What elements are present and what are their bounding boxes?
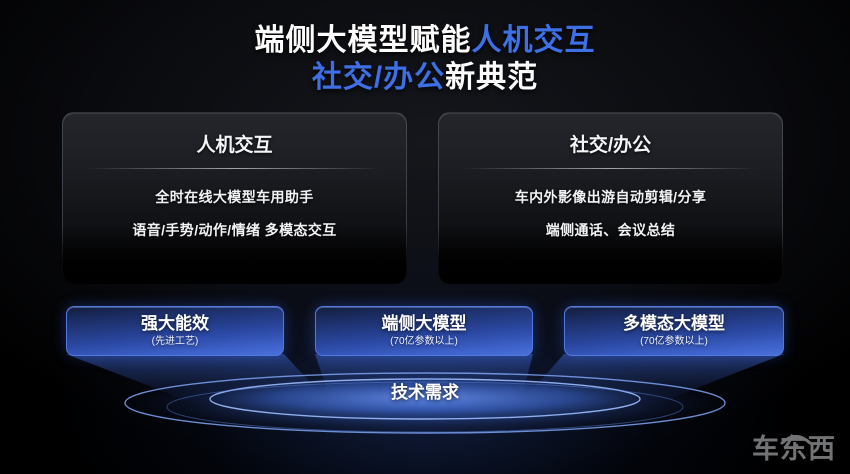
capability-button-sublabel: (70亿参数以上)	[390, 335, 458, 348]
title-line-1-blue: 人机交互	[472, 24, 596, 57]
watermark: 车东西	[752, 434, 836, 464]
slide-title: 端侧大模型赋能人机交互 社交/办公新典范	[0, 22, 850, 96]
pedestal-label: 技术需求	[0, 378, 850, 403]
capability-button-efficiency[interactable]: 强大能效 (先进工艺)	[66, 306, 284, 356]
card-body: 车内外影像出游自动剪辑/分享 端侧通话、会议总结	[439, 189, 782, 239]
wifi-arc-icon	[752, 430, 850, 470]
card-title: 社交/办公	[439, 130, 782, 157]
card-divider	[463, 168, 758, 169]
title-line-1: 端侧大模型赋能人机交互	[0, 22, 850, 59]
card-line: 全时在线大模型车用助手	[63, 189, 406, 206]
title-line-1-white: 端侧大模型赋能	[255, 24, 472, 57]
card-line: 车内外影像出游自动剪辑/分享	[439, 189, 782, 206]
capability-button-multimodal-model[interactable]: 多模态大模型 (70亿参数以上)	[564, 306, 784, 356]
card-title: 人机交互	[63, 130, 406, 157]
capability-button-label: 端侧大模型	[382, 314, 467, 334]
card-line: 端侧通话、会议总结	[439, 222, 782, 239]
title-line-2-white: 新典范	[445, 61, 538, 94]
card-body: 全时在线大模型车用助手 语音/手势/动作/情绪 多模态交互	[63, 189, 406, 239]
card-divider	[87, 168, 382, 169]
capability-button-on-device-model[interactable]: 端侧大模型 (70亿参数以上)	[315, 306, 533, 356]
pedestal-platform	[0, 355, 850, 460]
capability-button-sublabel: (先进工艺)	[152, 335, 199, 348]
capability-button-label: 多模态大模型	[623, 314, 725, 334]
card-line: 语音/手势/动作/情绪 多模态交互	[63, 222, 406, 239]
feature-card-human-machine: 人机交互 全时在线大模型车用助手 语音/手势/动作/情绪 多模态交互	[62, 112, 407, 284]
capability-button-label: 强大能效	[141, 314, 209, 334]
presentation-slide: 端侧大模型赋能人机交互 社交/办公新典范 人机交互 全时在线大模型车用助手 语音…	[0, 0, 850, 474]
capability-button-sublabel: (70亿参数以上)	[640, 335, 708, 348]
title-line-2-blue: 社交/办公	[312, 61, 445, 94]
feature-card-social-office: 社交/办公 车内外影像出游自动剪辑/分享 端侧通话、会议总结	[438, 112, 783, 284]
title-line-2: 社交/办公新典范	[0, 59, 850, 96]
